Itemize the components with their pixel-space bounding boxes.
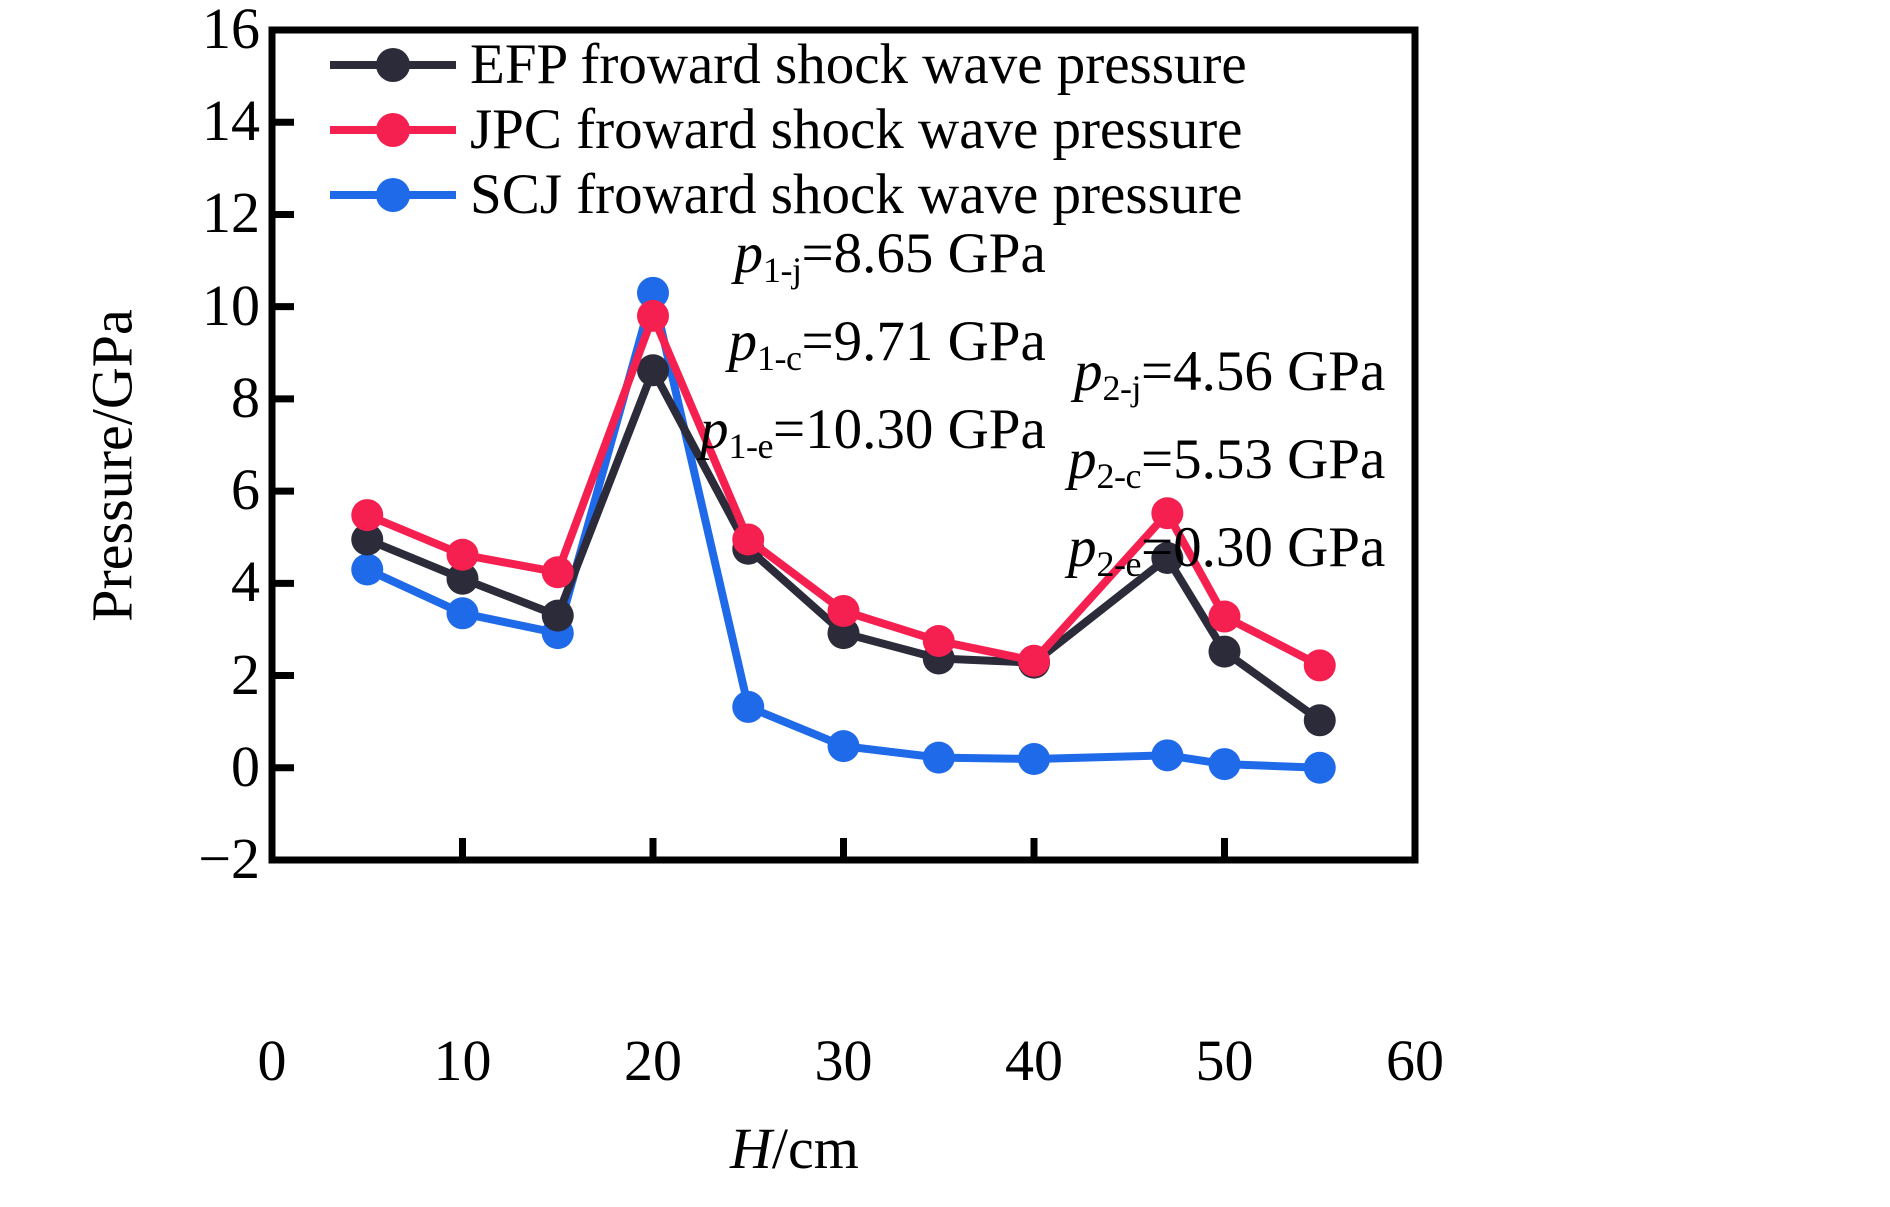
annotation-value: =10.30 GPa	[773, 398, 1046, 461]
annotation-symbol: p	[729, 310, 758, 373]
annotation-subscript: 2-j	[1102, 368, 1141, 408]
annotation-subscript: 1-c	[757, 338, 801, 378]
chart-legend: EFP froward shock wave pressureJPC frowa…	[330, 32, 1290, 227]
annotation-line-group-2-1: p2-c=5.53 GPa	[1068, 424, 1385, 512]
annotation-value: =5.53 GPa	[1141, 428, 1385, 491]
legend-marker-icon	[330, 110, 456, 150]
annotation-line-group-2-0: p2-j=4.56 GPa	[1068, 336, 1385, 424]
annotation-subscript: 2-e	[1097, 544, 1141, 584]
legend-label: JPC froward shock wave pressure	[470, 101, 1242, 158]
annotation-line-group-2-2: p2-e=0.30 GPa	[1068, 512, 1385, 600]
legend-marker-icon	[330, 175, 456, 215]
annotation-value: =9.71 GPa	[801, 310, 1045, 373]
legend-marker-icon	[330, 45, 456, 85]
legend-label: SCJ froward shock wave pressure	[470, 166, 1242, 223]
legend-dot	[376, 48, 410, 82]
annotation-symbol: p	[734, 222, 763, 285]
legend-dot	[376, 178, 410, 212]
annotation-subscript: 1-e	[729, 426, 773, 466]
legend-dot	[376, 113, 410, 147]
annotation-value: =8.65 GPa	[801, 222, 1045, 285]
annotation-subscript: 2-c	[1097, 456, 1141, 496]
chart-figure: Pressure/GPa 1614121086420−2 01020304050…	[0, 0, 1890, 1207]
legend-item-1[interactable]: JPC froward shock wave pressure	[330, 97, 1290, 162]
annotation-group-1: p1-j=8.65 GPap1-c=9.71 GPap1-e=10.30 GPa	[700, 218, 1046, 482]
annotation-line-group-1-0: p1-j=8.65 GPa	[700, 218, 1046, 306]
legend-label: EFP froward shock wave pressure	[470, 36, 1247, 93]
annotation-group-2: p2-j=4.56 GPap2-c=5.53 GPap2-e=0.30 GPa	[1068, 336, 1385, 600]
annotation-symbol: p	[700, 398, 729, 461]
annotation-subscript: 1-j	[763, 250, 802, 290]
legend-item-0[interactable]: EFP froward shock wave pressure	[330, 32, 1290, 97]
annotation-symbol: p	[1068, 428, 1097, 491]
annotation-value: =4.56 GPa	[1141, 340, 1385, 403]
annotation-symbol: p	[1074, 340, 1103, 403]
annotation-value: =0.30 GPa	[1141, 516, 1385, 579]
annotation-symbol: p	[1068, 516, 1097, 579]
annotation-line-group-1-1: p1-c=9.71 GPa	[700, 306, 1046, 394]
annotation-line-group-1-2: p1-e=10.30 GPa	[700, 394, 1046, 482]
